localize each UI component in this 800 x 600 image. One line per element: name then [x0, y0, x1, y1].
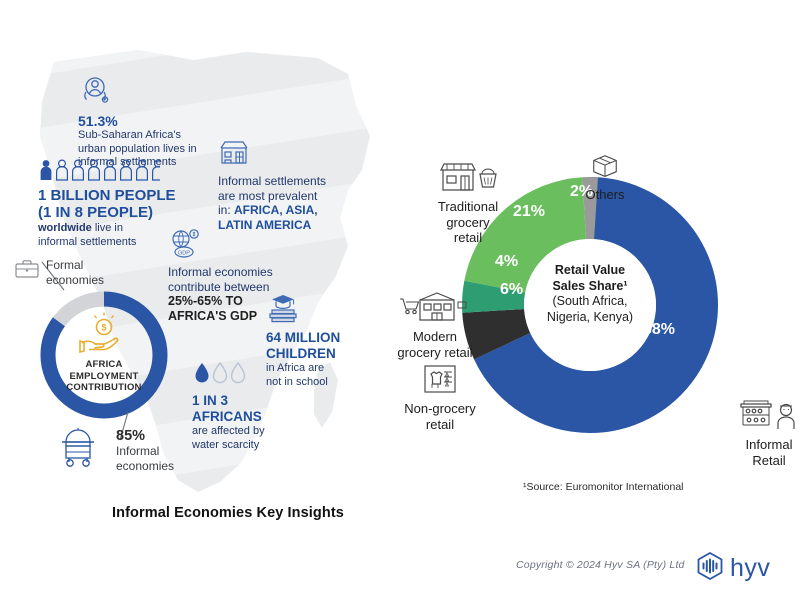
svg-text:$: $	[101, 323, 106, 333]
retail-center-sub-line1: (South Africa,	[522, 294, 658, 310]
globe-gdp-icon: GDP	[168, 228, 308, 263]
street-vendor-icon	[738, 419, 800, 436]
package-box-icon	[589, 169, 621, 186]
hyv-hexagon-logo	[699, 553, 722, 579]
pie-label-others: Others	[560, 187, 650, 203]
callout-formal-economies: Formal economies	[14, 258, 124, 287]
pie-label-modern-1: Modern	[374, 329, 496, 345]
svg-text:GDP: GDP	[178, 251, 190, 257]
pie-label-nongrocery-2: retail	[388, 417, 492, 433]
retail-center-title-line2: Sales Share¹	[522, 279, 658, 295]
fact-water-line1: are affected by	[192, 425, 312, 439]
market-stall-basket-icon	[436, 181, 500, 198]
clothing-store-icon	[422, 383, 458, 400]
fact-water-line2: water scarcity	[192, 439, 312, 453]
pie-label-traditional-1: Traditional	[416, 199, 520, 215]
street-cart-icon	[58, 428, 110, 473]
callout-informal-line1: Informal	[116, 444, 174, 459]
fact-prevalence-prefix: in:	[218, 203, 234, 217]
hyv-logo: hyv	[694, 551, 794, 583]
retail-center-sub-line2: Nigeria, Kenya)	[522, 310, 658, 326]
fact-one-billion-line1: 1 BILLION PEOPLE	[38, 187, 228, 204]
africa-employment-donut-chart: $ AFRICA EMPLOYMENT CONTRIBUTION	[34, 285, 174, 425]
hand-coin-icon: $	[77, 311, 131, 360]
africa-donut-center-line1: AFRICA	[34, 359, 174, 371]
copyright-text: Copyright © 2024 Hyv SA (Pty) Ltd	[516, 559, 685, 571]
pie-label-traditional-3: retail	[416, 230, 520, 246]
callout-informal-value: 85%	[116, 428, 174, 444]
retail-donut-center-text: Retail Value Sales Share¹ (South Africa,…	[522, 263, 658, 325]
fact-water-scarcity: 1 IN 3 AFRICANS are affected by water sc…	[192, 362, 312, 452]
globe-person-icon	[78, 72, 248, 111]
fact-one-billion-line2: (1 IN 8 PEOPLE)	[38, 204, 228, 221]
africa-donut-center-line2: EMPLOYMENT	[34, 371, 174, 383]
water-drops-icon	[192, 362, 312, 391]
fact-settlement-prevalence: Informal settlements are most prevalent …	[218, 136, 348, 232]
pie-callout-informal: Informal Retail	[738, 398, 800, 468]
fact-gdp-line1: Informal economies	[168, 265, 308, 280]
pie-label-modern-2: grocery retail	[374, 345, 496, 361]
africa-donut-center-line3: CONTRIBUTION	[34, 382, 174, 394]
pie-label-traditional-2: grocery	[416, 215, 520, 231]
briefcase-icon	[14, 258, 40, 285]
callout-formal-line1: Formal	[46, 258, 104, 273]
fact-children-stat1: 64 MILLION	[266, 330, 376, 346]
graduation-books-icon	[266, 293, 376, 328]
slice-value-modern: 4%	[495, 253, 518, 271]
pie-callout-modern: Modern grocery retail	[374, 290, 496, 360]
fact-one-billion-worldwide: worldwide	[38, 222, 92, 234]
pie-callout-others: Others	[560, 152, 650, 203]
pie-callout-nongrocery: Non-grocery retail	[388, 362, 492, 432]
callout-informal-line2: economies	[116, 459, 174, 474]
fact-prevalence-regions-1: AFRICA, ASIA,	[234, 203, 318, 217]
pie-callout-traditional: Traditional grocery retail	[416, 160, 520, 246]
pie-label-informal-1: Informal	[738, 437, 800, 453]
callout-informal-economies: 85% Informal economies	[58, 428, 208, 473]
fact-children-stat2: CHILDREN	[266, 346, 376, 362]
shop-house-icon	[218, 136, 348, 171]
fact-prevalence-line2: are most prevalent	[218, 189, 348, 204]
source-note: ¹Source: Euromonitor International	[523, 481, 684, 493]
infographic-canvas: 51.3% Sub-Saharan Africa's urban populat…	[0, 0, 800, 600]
fact-gdp-line2: contribute between	[168, 280, 308, 295]
svg-text:hyv: hyv	[730, 554, 770, 582]
fact-prevalence-line1: Informal settlements	[218, 174, 348, 189]
fact-one-billion-rest: live in	[92, 222, 123, 234]
left-panel-title: Informal Economies Key Insights	[112, 505, 344, 521]
callout-formal-line2: economies	[46, 273, 104, 288]
slice-value-nongrocery: 6%	[500, 281, 523, 299]
africa-donut-center-label: AFRICA EMPLOYMENT CONTRIBUTION	[34, 359, 174, 394]
fact-water-stat2: AFRICANS	[192, 409, 312, 425]
pie-label-informal-2: Retail	[738, 453, 800, 469]
fact-water-stat1: 1 IN 3	[192, 393, 312, 409]
supermarket-trolley-icon	[398, 311, 472, 328]
people-row-icon	[38, 158, 228, 187]
pie-label-nongrocery-1: Non-grocery	[388, 401, 492, 417]
retail-center-title-line1: Retail Value	[522, 263, 658, 279]
fact-urban-population-stat: 51.3%	[78, 113, 248, 129]
